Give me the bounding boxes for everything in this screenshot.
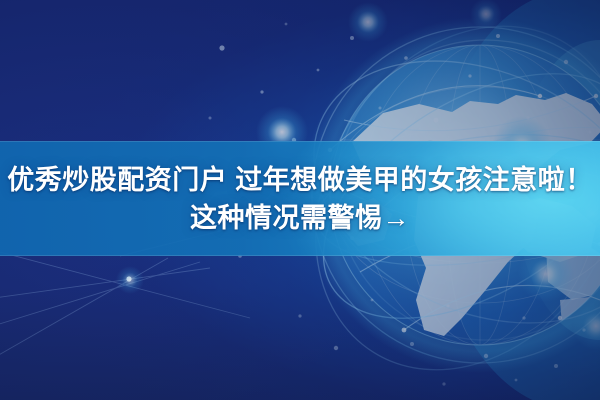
headline-line-2: 这种情况需警惕→ [190, 201, 410, 235]
banner-image: 优秀炒股配资门户 过年想做美甲的女孩注意啦！ 这种情况需警惕→ [0, 0, 600, 400]
headline-block: 优秀炒股配资门户 过年想做美甲的女孩注意啦！ 这种情况需警惕→ [0, 141, 600, 256]
headline-line-1: 优秀炒股配资门户 过年想做美甲的女孩注意啦！ [7, 163, 593, 197]
